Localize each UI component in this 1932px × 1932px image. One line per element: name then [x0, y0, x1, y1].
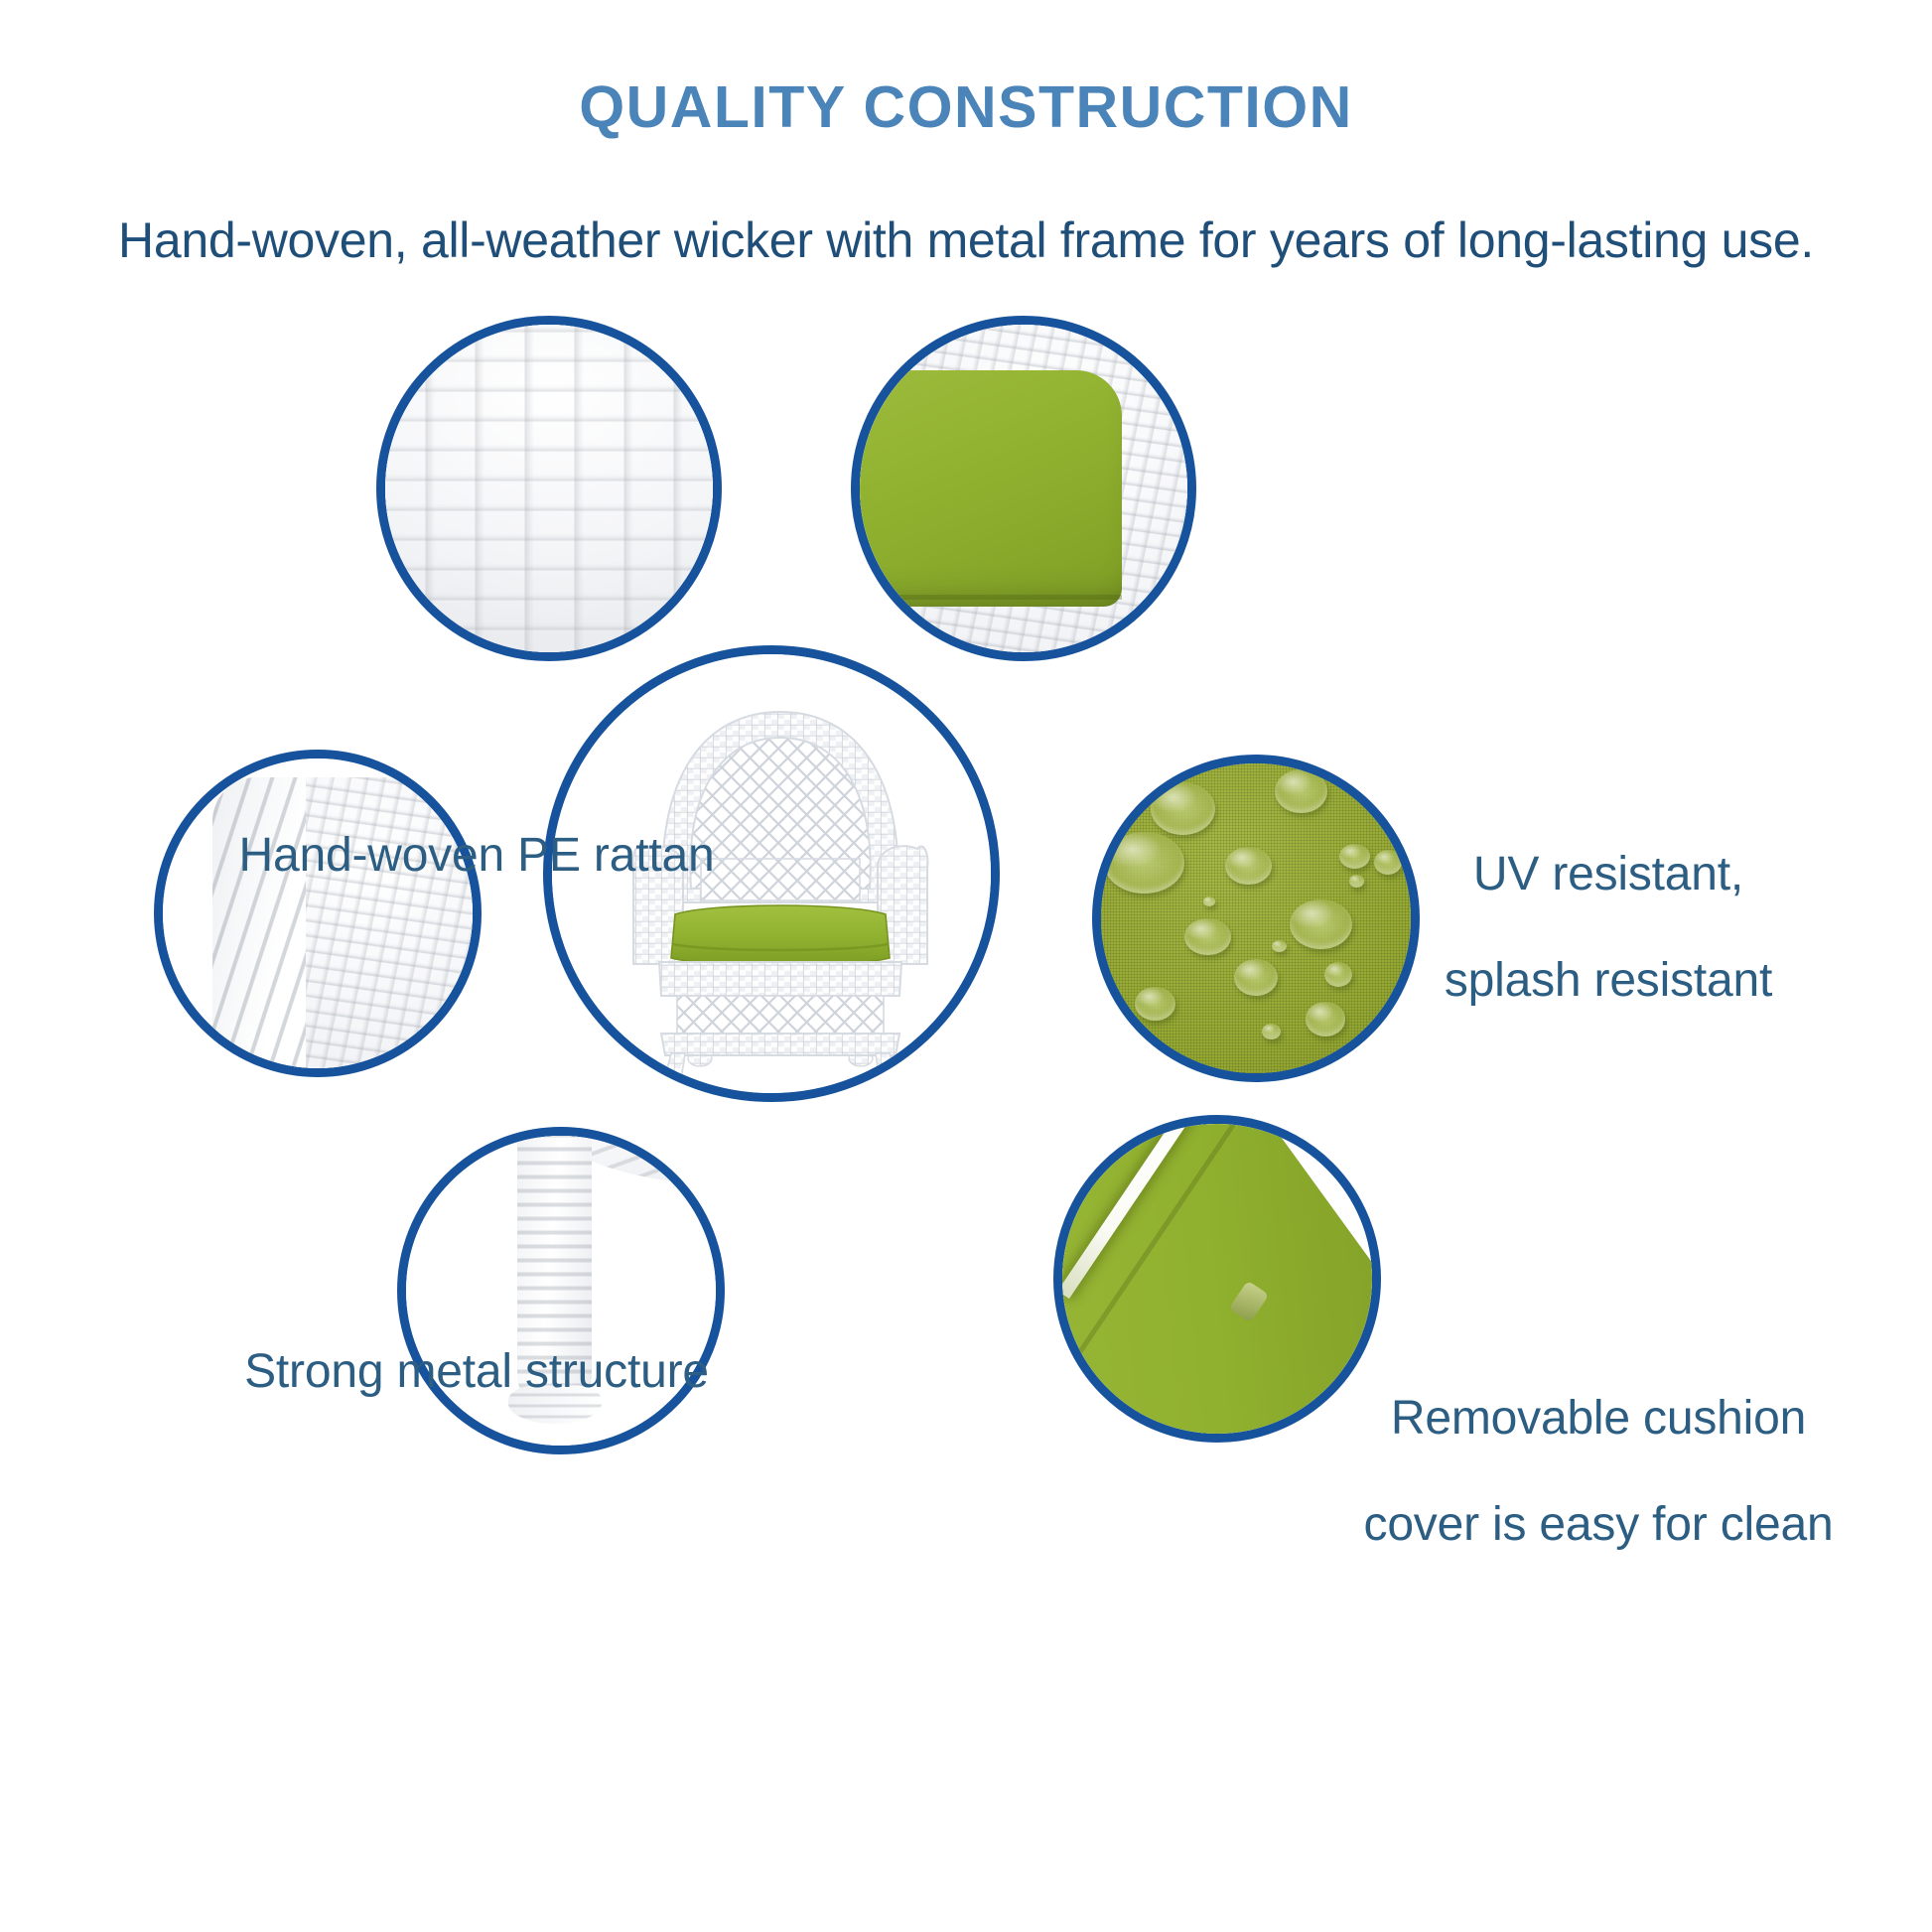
caption-uv-line-2: splash resistant	[1320, 954, 1896, 1008]
feature-circle-chair-leg	[397, 1127, 725, 1454]
armrest-side-face	[212, 777, 306, 1068]
caption-strong-metal-structure: Strong metal structure	[79, 1345, 874, 1399]
page-title: QUALITY CONSTRUCTION	[0, 77, 1932, 139]
cushion-seam-line	[851, 595, 1122, 600]
caption-removable-cushion-cover: Removable cushion cover is easy for clea…	[1281, 1338, 1916, 1605]
caption-hand-woven-pe-rattan: Hand-woven PE rattan	[89, 829, 864, 883]
caption-uv-splash-resistant: UV resistant, splash resistant	[1320, 794, 1896, 1061]
infographic-canvas: QUALITY CONSTRUCTION Hand-woven, all-wea…	[0, 0, 1932, 1932]
water-droplet	[1262, 1024, 1281, 1039]
water-droplet	[1234, 959, 1278, 996]
page-subtitle: Hand-woven, all-weather wicker with meta…	[0, 213, 1932, 268]
water-droplet	[1275, 769, 1327, 813]
water-droplet	[1104, 832, 1184, 894]
water-droplet	[1225, 847, 1272, 884]
water-droplet	[1151, 782, 1216, 835]
feature-circle-hand-woven-pe-rattan	[376, 316, 722, 661]
wicker-weave-image	[385, 325, 713, 652]
feature-circle-uv-splash-resistant	[851, 316, 1196, 661]
water-droplet	[1203, 897, 1215, 905]
green-cushion-shape	[851, 370, 1122, 607]
caption-uv-line-1: UV resistant,	[1320, 848, 1896, 901]
water-droplet	[1135, 987, 1175, 1021]
feature-circle-strong-metal-structure	[154, 750, 482, 1077]
caption-clean-line-1: Removable cushion	[1281, 1392, 1916, 1446]
caption-clean-line-2: cover is easy for clean	[1281, 1498, 1916, 1552]
